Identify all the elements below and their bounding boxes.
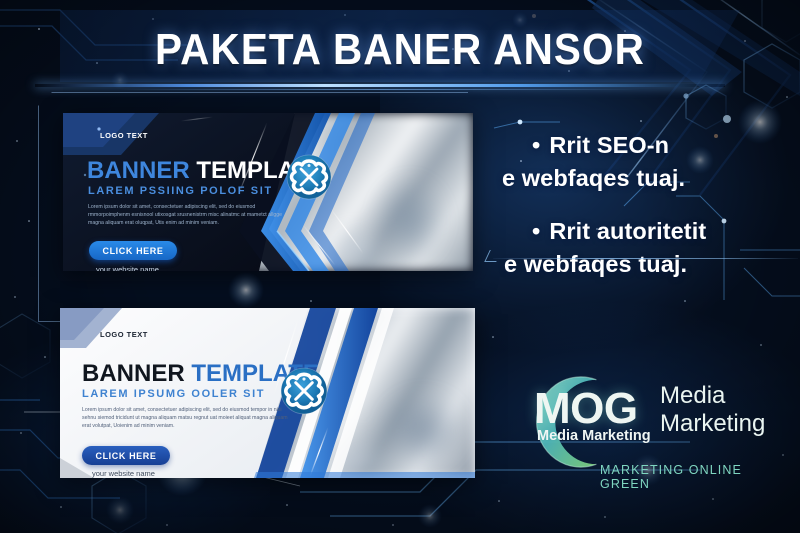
benefit-text-2: Rrit autoritetit <box>549 218 706 244</box>
banner-title-main: BANNER <box>87 157 190 184</box>
banner-subtitle: LAREM PSSIING POLOF SIT <box>88 185 273 197</box>
banner-logo-text: LOGO TEXT <box>100 330 148 339</box>
banner-body-text: Lorem ipsum dolor sit amet, consectetuer… <box>82 406 297 430</box>
banner-title-main: BANNER <box>82 360 185 387</box>
brand-wordmark: MOG <box>534 384 638 434</box>
benefit-item-2: •Rrit autoritetit <box>532 218 800 245</box>
banner-cta-button[interactable]: CLICK HERE <box>89 241 177 260</box>
benefits-list: •Rrit SEO-n e webfaqes tuaj. •Rrit autor… <box>500 132 800 278</box>
title-divider-secondary <box>120 89 640 90</box>
banner-subtitle: LAREM IPSUMG OOLER SIT <box>82 388 265 400</box>
banner-website-label: your website name <box>96 265 159 271</box>
brand-name-line-2: Marketing <box>660 410 765 438</box>
banner-preview-dark[interactable]: LOGO TEXT BANNER TEMPLATE LAREM PSSIING … <box>63 113 473 271</box>
brand-name-line-1: Media <box>660 382 765 410</box>
benefit-text-1: Rrit SEO-n <box>549 132 669 158</box>
banner-website-label: your website name <box>92 469 155 478</box>
poster-canvas: PAKETA BANER ANSOR <box>0 0 800 533</box>
banner-preview-light[interactable]: LOGO TEXT BANNER TEMPLATE LAREM IPSUMG O… <box>60 308 475 478</box>
banner-cta-button[interactable]: CLICK HERE <box>82 446 170 465</box>
brand-wordmark-subtitle: Media Marketing <box>537 428 651 444</box>
quatrefoil-emblem-icon <box>284 152 334 202</box>
page-title: PAKETA BANER ANSOR <box>32 25 768 75</box>
benefit-item-1: •Rrit SEO-n <box>532 132 800 159</box>
bullet-dot-icon: • <box>532 218 540 244</box>
brand-name: Media Marketing <box>660 382 765 439</box>
benefit-item-1-line2: e webfaqes tuaj. <box>502 165 800 192</box>
brand-logo: MOG Media Marketing Media Marketing MARK… <box>512 368 792 483</box>
banner-body-text: Lorem ipsum dolor sit amet, consectetuer… <box>88 203 293 227</box>
header: PAKETA BANER ANSOR <box>0 0 800 100</box>
title-divider <box>35 84 725 87</box>
banner-logo-text: LOGO TEXT <box>100 131 148 140</box>
brand-tagline: MARKETING ONLINE GREEN <box>600 463 792 491</box>
bullet-dot-icon: • <box>532 132 540 158</box>
benefit-item-2-line2: e webfaqes tuaj. <box>504 251 800 278</box>
benefits-divider <box>493 258 798 259</box>
quatrefoil-emblem-icon <box>278 365 330 417</box>
